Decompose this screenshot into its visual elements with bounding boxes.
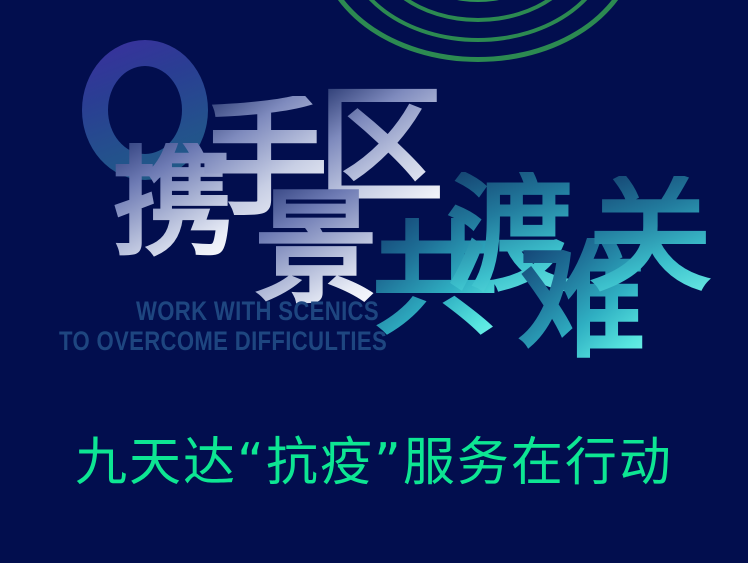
slogan-line-2: TO OVERCOME DIFFICULTIES	[59, 326, 387, 357]
headline-char-jing: 景	[254, 188, 378, 312]
slogan-line-1: WORK WITH SCENICS	[136, 296, 379, 327]
headline-char-guan: 关	[588, 176, 712, 300]
poster-canvas: 携 手 区 景 共 渡 难 关 WORK WITH SCENICS TO OVE…	[0, 0, 748, 563]
subtitle-text: 九天达“抗疫”服务在行动	[0, 420, 748, 495]
